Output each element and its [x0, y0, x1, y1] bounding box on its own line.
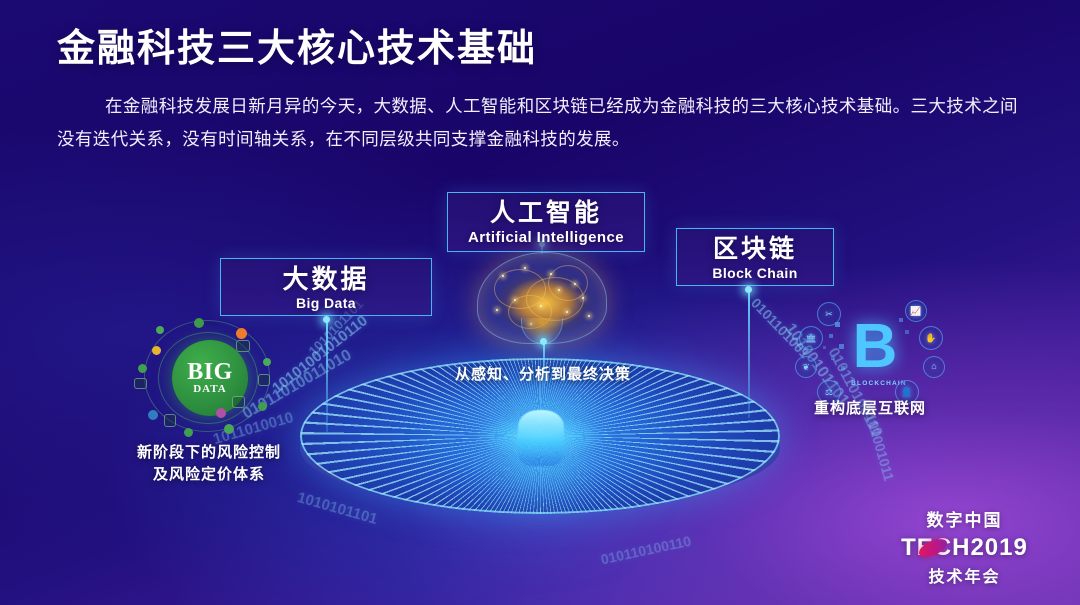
caption-big-data-line1: 新阶段下的风险控制	[96, 442, 322, 464]
bd-core-title: BIG	[187, 361, 233, 383]
bc-user-icon: 👤	[900, 388, 914, 397]
logo-line-3: 技术年会	[887, 563, 1042, 587]
brain-fold	[548, 265, 588, 301]
binary-stream: 010110100110	[599, 533, 692, 568]
bc-chart-icon: 📈	[909, 307, 923, 316]
event-logo: 数字中国 TECH2019 技术年会	[887, 506, 1042, 587]
concept-title-en: Block Chain	[677, 264, 833, 282]
concept-title-cn: 大数据	[221, 264, 431, 294]
slide-canvas: 金融科技三大核心技术基础 在金融科技发展日新月异的今天，大数据、人工智能和区块链…	[0, 0, 1080, 605]
concept-title-en: Big Data	[221, 294, 431, 312]
bd-node	[156, 326, 164, 334]
bc-home-icon: ⌂	[927, 362, 941, 371]
bc-leaf-icon: ❦	[799, 363, 813, 372]
connector-line-big-data	[326, 320, 328, 432]
bd-node	[216, 408, 226, 418]
bd-mini-icon	[134, 378, 147, 389]
bc-scales-icon: ⚖	[822, 388, 836, 397]
bd-node	[152, 346, 161, 355]
bd-node	[194, 318, 204, 328]
bd-mini-icon	[232, 396, 245, 408]
bd-node	[258, 402, 267, 411]
big-data-network-icon: BIG DATA	[132, 318, 284, 440]
concept-title-cn: 人工智能	[448, 198, 644, 228]
logo-line-2: TECH2019	[887, 534, 1042, 562]
bd-node	[184, 428, 193, 437]
bd-node	[224, 424, 234, 434]
bd-node	[236, 328, 247, 339]
bd-core-subtitle: DATA	[193, 383, 227, 395]
slide-body-paragraph: 在金融科技发展日新月异的今天，大数据、人工智能和区块链已经成为金融科技的三大核心…	[57, 90, 1025, 156]
disc-core-glow	[518, 410, 564, 466]
glowing-brain-icon	[477, 248, 609, 348]
logo-line-1: 数字中国	[887, 506, 1042, 531]
blockchain-bitcoin-b-icon: B BLOCKCHAIN ✂ 🏛 ❦ ⚖ 📈 ✋ ⌂ 👤	[795, 300, 950, 410]
bc-tools-icon: ✂	[822, 310, 836, 319]
concept-title-en: Artificial Intelligence	[448, 228, 644, 247]
caption-big-data-line2: 及风险定价体系	[96, 464, 322, 486]
concept-title-cn: 区块链	[677, 234, 833, 264]
bd-node	[138, 364, 147, 373]
connector-line-block-chain	[748, 290, 750, 418]
bc-letter-b: B	[847, 312, 903, 384]
bd-node	[263, 358, 271, 366]
bd-node	[148, 410, 158, 420]
caption-artificial-intelligence: 从感知、分析到最终决策	[428, 364, 658, 386]
caption-block-chain: 重构底层互联网	[760, 398, 980, 420]
bc-bank-icon: 🏛	[804, 334, 818, 343]
concept-box-block-chain[interactable]: 区块链 Block Chain	[676, 228, 834, 286]
concept-box-big-data[interactable]: 大数据 Big Data	[220, 258, 432, 316]
bd-mini-icon	[236, 340, 250, 352]
bd-mini-icon	[164, 414, 176, 427]
bc-hand-icon: ✋	[924, 334, 938, 343]
page-title: 金融科技三大核心技术基础	[57, 17, 537, 72]
bd-mini-icon	[258, 374, 270, 386]
concept-box-artificial-intelligence[interactable]: 人工智能 Artificial Intelligence	[447, 192, 645, 252]
